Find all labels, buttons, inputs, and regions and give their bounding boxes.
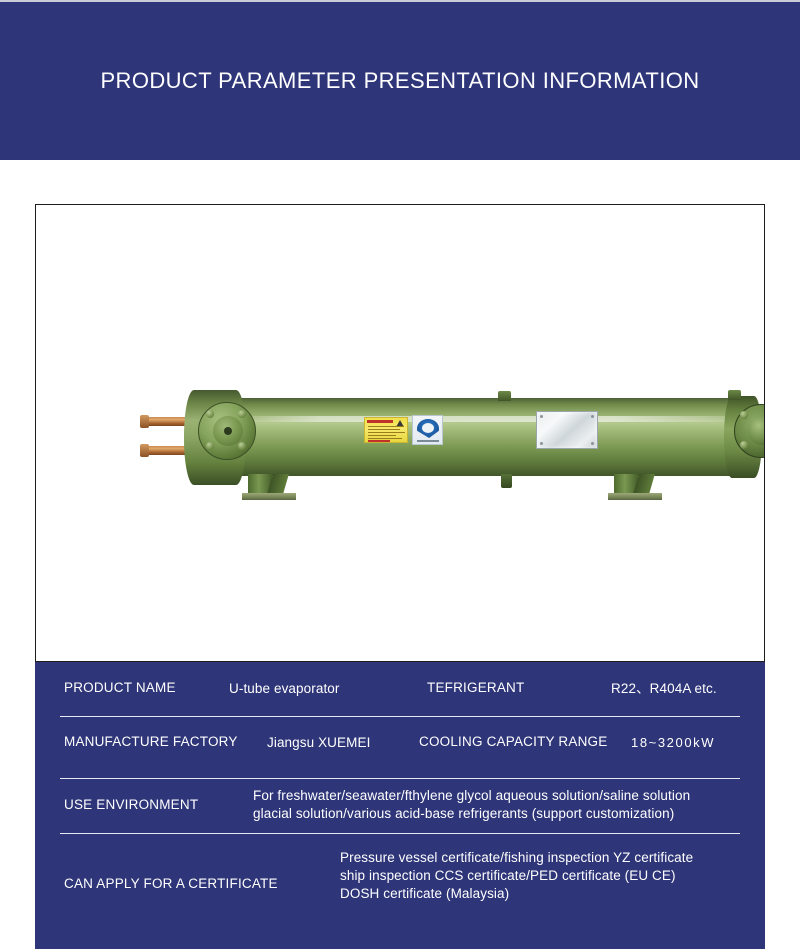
spec-value-use-environment-line-1: For freshwater/seawater/fthylene glycol … xyxy=(253,787,743,805)
spec-value-certificates: Pressure vessel certificate/fishing insp… xyxy=(340,849,750,904)
page-title: PRODUCT PARAMETER PRESENTATION INFORMATI… xyxy=(0,68,800,94)
nameplate-screw-icon xyxy=(540,442,543,445)
table-row: CAN APPLY FOR A CERTIFICATE Pressure ves… xyxy=(35,833,765,949)
top-vent-port xyxy=(498,391,511,401)
certification-sticker xyxy=(412,415,443,445)
warning-label-text-line xyxy=(368,435,396,436)
nameplate-screw-icon xyxy=(591,415,594,418)
right-flange-bolt-icon xyxy=(740,411,748,419)
left-flange-bolt-icon xyxy=(206,442,214,450)
spec-label-product-name: PRODUCT NAME xyxy=(64,680,176,695)
warning-label-footer xyxy=(368,440,390,442)
spec-label-use-environment: USE ENVIRONMENT xyxy=(64,797,198,812)
warning-label-text-line xyxy=(368,429,400,430)
spec-value-use-environment-line-2: glacial solution/various acid-base refri… xyxy=(253,805,743,823)
spec-value-manufacture-factory: Jiangsu XUEMEI xyxy=(267,734,370,752)
top-vent-port xyxy=(728,390,741,400)
spec-value-certificates-line-1: Pressure vessel certificate/fishing insp… xyxy=(340,849,750,867)
spec-value-refrigerant: R22、R404A etc. xyxy=(611,680,717,698)
specification-table: PRODUCT NAME U-tube evaporator TEFRIGERA… xyxy=(35,662,765,949)
spec-value-use-environment: For freshwater/seawater/fthylene glycol … xyxy=(253,787,743,823)
spec-value-cooling-capacity-range: 18~3200kW xyxy=(631,734,715,752)
spec-value-product-name: U-tube evaporator xyxy=(229,680,340,698)
product-photo-panel xyxy=(35,204,765,662)
certification-shield-inner xyxy=(422,423,434,433)
spec-value-certificates-line-3: DOSH certificate (Malaysia) xyxy=(340,885,750,903)
vessel-shell xyxy=(224,398,748,476)
nameplate-screw-icon xyxy=(591,442,594,445)
spec-label-refrigerant: TEFRIGERANT xyxy=(427,680,524,695)
product-photo xyxy=(36,205,764,661)
spec-label-cooling-capacity-range: COOLING CAPACITY RANGE xyxy=(419,734,607,749)
certification-sticker-text-line xyxy=(417,440,439,442)
copper-nozzle-lower-cap-icon xyxy=(140,444,149,457)
saddle-base-plate xyxy=(608,493,662,500)
left-flange-bolt-icon xyxy=(206,410,214,418)
left-flange-bolt-icon xyxy=(238,410,246,418)
table-row: MANUFACTURE FACTORY Jiangsu XUEMEI COOLI… xyxy=(35,716,765,778)
nameplate xyxy=(536,411,598,449)
spec-value-certificates-line-2: ship inspection CCS certificate/PED cert… xyxy=(340,867,750,885)
left-flange-hub xyxy=(224,427,232,435)
warning-label-heading xyxy=(367,420,393,423)
warning-label-sticker xyxy=(364,417,408,443)
nameplate-screw-icon xyxy=(540,415,543,418)
spec-label-manufacture-factory: MANUFACTURE FACTORY xyxy=(64,734,238,749)
product-parameter-page: PRODUCT PARAMETER PRESENTATION INFORMATI… xyxy=(0,0,800,949)
right-flange-bolt-icon xyxy=(740,441,748,449)
vessel-shell-highlight xyxy=(228,416,744,422)
table-row: PRODUCT NAME U-tube evaporator TEFRIGERA… xyxy=(35,662,765,716)
evaporator-vessel-illustration xyxy=(136,390,736,485)
saddle-base-plate xyxy=(242,493,296,500)
header-banner: PRODUCT PARAMETER PRESENTATION INFORMATI… xyxy=(0,0,800,160)
spec-label-can-apply-for-a-certificate: CAN APPLY FOR A CERTIFICATE xyxy=(64,876,278,891)
bottom-drain-port xyxy=(501,474,512,488)
warning-label-text-line xyxy=(368,426,404,427)
left-flange-bolt-icon xyxy=(238,442,246,450)
warning-label-text-line xyxy=(368,432,405,433)
copper-nozzle-upper-cap-icon xyxy=(140,415,149,428)
table-row: USE ENVIRONMENT For freshwater/seawater/… xyxy=(35,778,765,833)
warning-label-text-line xyxy=(368,438,402,439)
